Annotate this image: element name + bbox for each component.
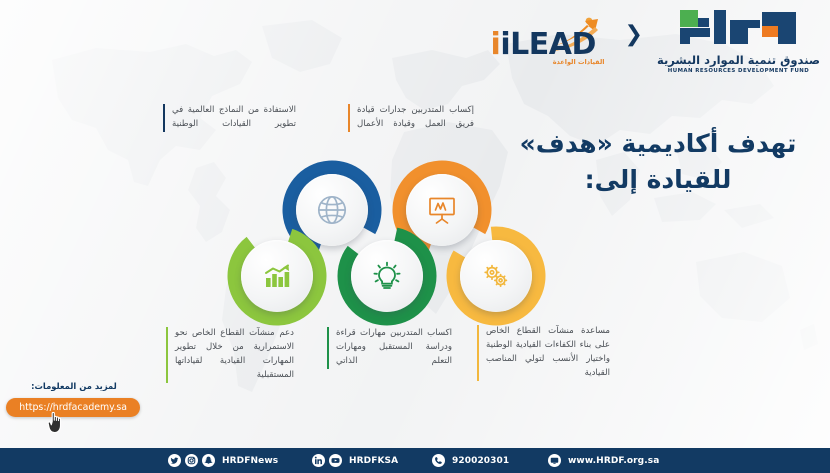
academy-url-button[interactable]: https://hrdfacademy.sa <box>6 398 140 417</box>
ilead-text: iLEAD <box>500 27 596 62</box>
footer-label-phone: 920020301 <box>452 456 509 466</box>
goal-label: الاستفادة من النماذج العالمية في تطوير ا… <box>172 104 303 132</box>
goal-text-leadership-competencies: إكساب المتدربين جدارات قيادة فريق العمل … <box>348 104 481 132</box>
ilead-logo: iiLEAD القيادات الواعدة <box>491 15 611 67</box>
footer-group-website[interactable]: www.HRDF.org.sa <box>548 454 659 467</box>
ilead-wordmark: iiLEAD <box>491 27 596 62</box>
hrdf-english-name: HUMAN RESOURCES DEVELOPMENT FUND <box>668 68 809 74</box>
ilead-subtitle: القيادات الواعدة <box>553 58 605 66</box>
gears-icon <box>479 259 513 293</box>
disc-growth-chart <box>241 240 313 312</box>
footer-group-social-news[interactable]: HRDFNews <box>168 454 278 467</box>
infographic-slide: صندوق تنمية الموارد البشرية HUMAN RESOUR… <box>0 0 830 473</box>
goal-text-global-models: الاستفادة من النماذج العالمية في تطوير ا… <box>163 104 303 132</box>
footer-group-phone[interactable]: 920020301 <box>432 454 509 467</box>
lightbulb-icon <box>370 259 404 293</box>
more-info-label: لمزيد من المعلومات: <box>8 381 140 391</box>
growth-bar-chart-icon <box>260 259 294 293</box>
footer-group-social-ksa[interactable]: HRDFKSA <box>312 454 398 467</box>
monitor-icon[interactable] <box>548 454 561 467</box>
footer-label-social-news: HRDFNews <box>222 456 278 466</box>
hrdf-arabic-name: صندوق تنمية الموارد البشرية <box>657 53 820 67</box>
instagram-icon[interactable] <box>185 454 198 467</box>
disc-gears <box>460 240 532 312</box>
chevron-left-icon: ❮ <box>625 24 643 46</box>
hrdf-wordmark-icon <box>674 8 802 52</box>
linkedin-icon[interactable] <box>312 454 325 467</box>
presentation-board-icon <box>425 193 459 227</box>
disc-lightbulb <box>351 240 423 312</box>
ring-lightgreen-private-sector[interactable] <box>225 224 329 328</box>
footer-label-social-ksa: HRDFKSA <box>349 456 398 466</box>
hrdf-logo: صندوق تنمية الموارد البشرية HUMAN RESOUR… <box>657 8 820 74</box>
ring-green-future-skills[interactable] <box>335 224 439 328</box>
goal-label: إكساب المتدربين جدارات قيادة فريق العمل … <box>357 104 481 132</box>
more-info-block: لمزيد من المعلومات: https://hrdfacademy.… <box>8 381 140 417</box>
footer-label-website: www.HRDF.org.sa <box>568 456 659 466</box>
twitter-icon[interactable] <box>168 454 181 467</box>
hand-pointer-icon <box>46 409 68 435</box>
globe-icon <box>315 193 349 227</box>
phone-icon[interactable] <box>432 454 445 467</box>
snapchat-icon[interactable] <box>202 454 215 467</box>
header-logo-bar: صندوق تنمية الموارد البشرية HUMAN RESOUR… <box>491 8 820 74</box>
goal-ring-cluster <box>222 158 562 353</box>
ring-amber-national-competencies[interactable] <box>444 224 548 328</box>
youtube-icon[interactable] <box>329 454 342 467</box>
footer-bar: HRDFNews HRDFKSA 920020301 <box>0 448 830 473</box>
